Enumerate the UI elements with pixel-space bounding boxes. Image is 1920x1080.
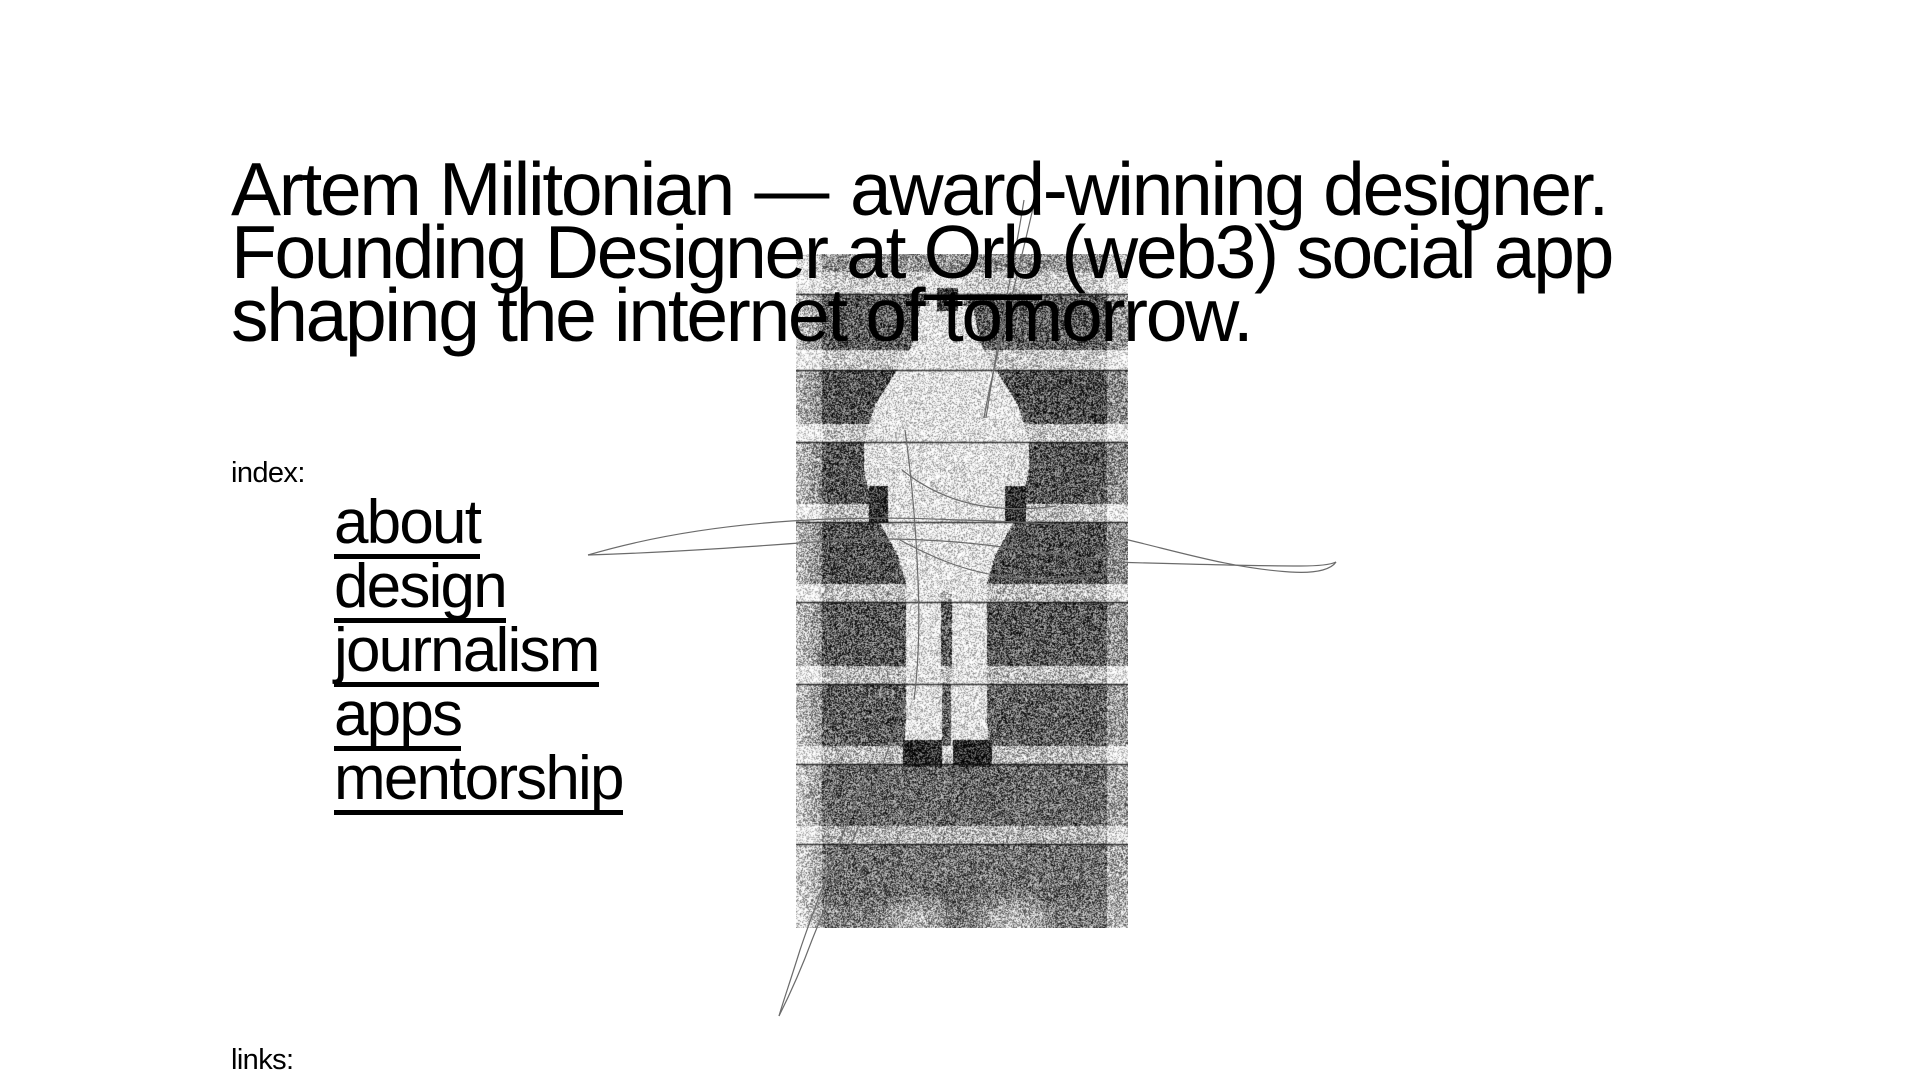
page-title: Artem Militonian — award-winning designe… bbox=[231, 158, 1671, 347]
page-root: Artem Militonian — award-winning designe… bbox=[0, 0, 1920, 1080]
list-item: about bbox=[334, 492, 623, 556]
list-item: design bbox=[334, 556, 623, 620]
index-link-journalism[interactable]: journalism bbox=[334, 620, 599, 687]
list-item: journalism bbox=[334, 620, 623, 684]
list-item: mentorship bbox=[334, 748, 623, 812]
index-link-apps[interactable]: apps bbox=[334, 684, 461, 751]
index-list: about design journalism apps mentorship bbox=[334, 492, 623, 812]
line-right-upper bbox=[1120, 538, 1336, 572]
index-link-about[interactable]: about bbox=[334, 492, 480, 559]
index-label: index: bbox=[231, 459, 305, 488]
index-link-mentorship[interactable]: mentorship bbox=[334, 748, 623, 815]
links-label: links: bbox=[231, 1046, 293, 1075]
line-right-lower bbox=[1112, 562, 1336, 566]
list-item: apps bbox=[334, 684, 623, 748]
index-link-design[interactable]: design bbox=[334, 556, 506, 623]
